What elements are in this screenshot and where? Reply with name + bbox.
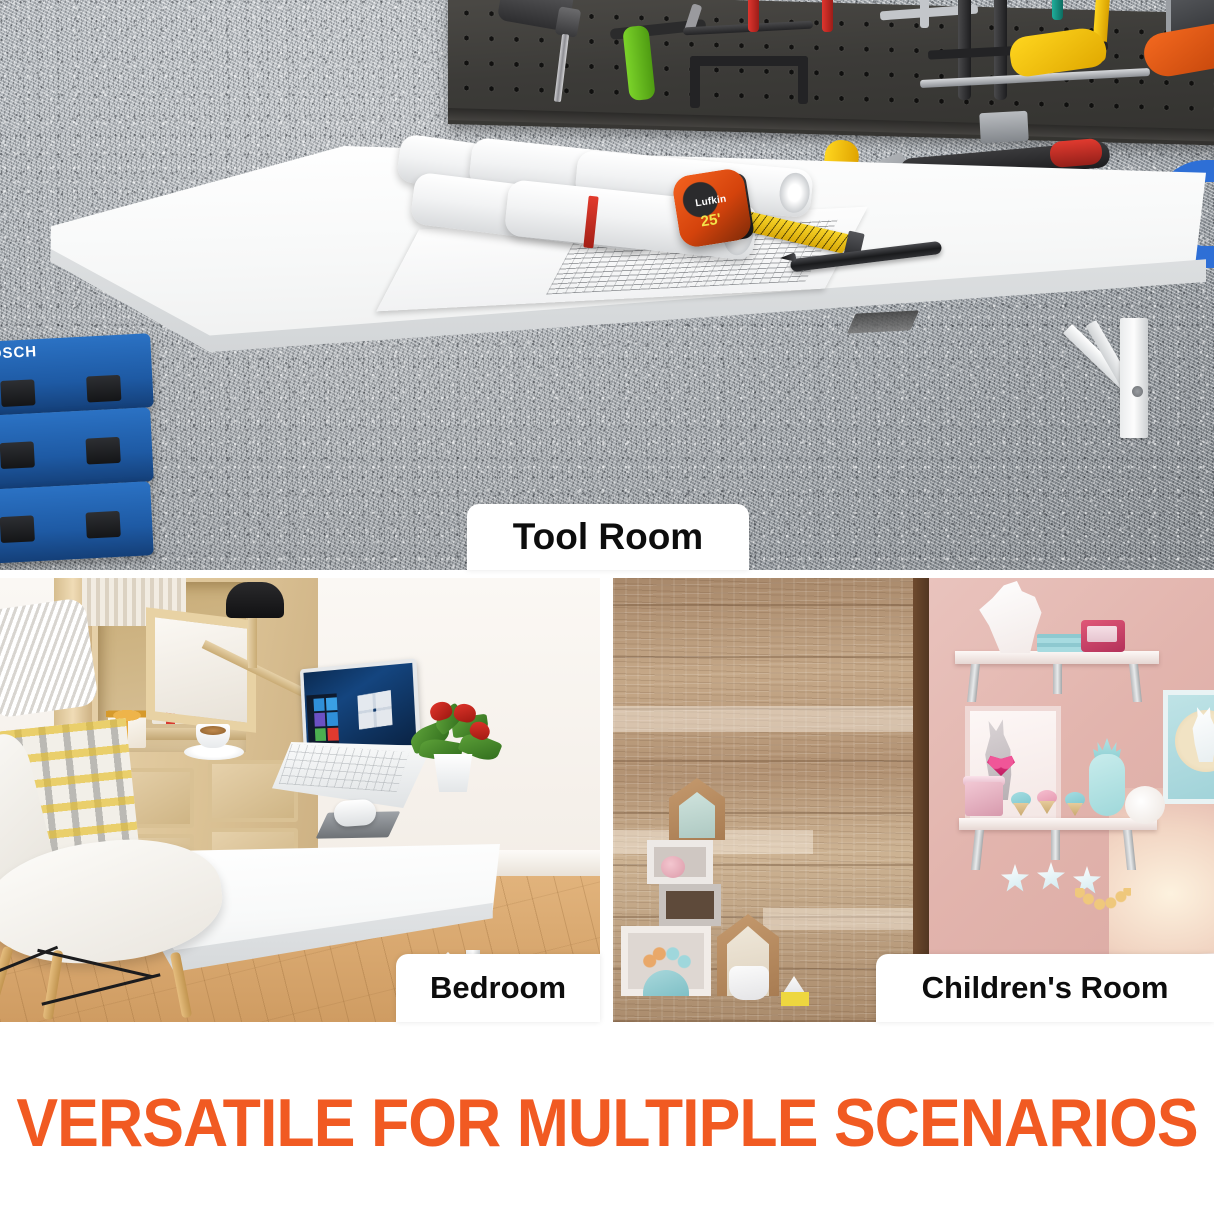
- tile-icon: [326, 697, 338, 711]
- pink-tin: [965, 782, 1003, 816]
- tile-icon: [327, 712, 339, 725]
- wood-frame-mirror: [146, 607, 256, 733]
- hex-key-arm2-icon: [798, 56, 808, 104]
- screwdriver-red2-icon: [822, 0, 833, 32]
- bed-pillow: [0, 597, 99, 719]
- laptop-keyboard: [279, 744, 409, 792]
- shelf-box: [659, 884, 721, 926]
- label-bedroom: Bedroom: [396, 954, 600, 1022]
- books-stack: [1037, 634, 1085, 652]
- case-latch-icon: [0, 441, 35, 469]
- shelf-bracket: [1053, 664, 1062, 694]
- lamp-stem: [248, 616, 257, 668]
- ice-cream-toy: [1065, 792, 1085, 816]
- ice-cream-cone: [1039, 801, 1055, 814]
- table-support-bracket: [1072, 320, 1182, 442]
- tool-case-bottom: [0, 481, 154, 565]
- lamp-shade: [226, 582, 284, 618]
- bracket-screw-icon: [1132, 386, 1143, 397]
- label-tool-room: Tool Room: [467, 504, 749, 570]
- wood-plank-light: [613, 706, 929, 732]
- pineapple-light-icon: [1089, 754, 1125, 816]
- wood-plank-light: [763, 908, 929, 930]
- wall-shelf-top: [955, 651, 1159, 664]
- bead-garland: [1075, 888, 1131, 912]
- coffee-liquid: [200, 726, 226, 735]
- bracket-post: [1120, 318, 1148, 438]
- screwdriver-teal2-icon: [1052, 0, 1063, 20]
- computer-mouse: [333, 799, 377, 828]
- tile-icon: [327, 727, 339, 740]
- ice-cream-cone: [1067, 803, 1083, 816]
- axe-grip-icon: [1049, 138, 1103, 168]
- scraper-icon: [979, 111, 1029, 143]
- toy-face-pot: [729, 966, 769, 1000]
- case-latch-icon: [86, 375, 121, 403]
- case-latch-icon: [85, 511, 120, 539]
- tool-case-middle: [0, 407, 154, 491]
- hex-key-icon: [690, 56, 808, 66]
- case-latch-icon: [0, 515, 35, 543]
- screwdriver-red-icon: [748, 0, 759, 32]
- case-latch-icon: [85, 437, 120, 465]
- label-children-room: Children's Room: [876, 954, 1214, 1022]
- toy-ring: [661, 856, 685, 878]
- headline-text: VERSATILE FOR MULTIPLE SCENARIOS: [49, 1078, 1166, 1168]
- windows-tiles: [313, 697, 338, 741]
- tile-icon: [314, 713, 325, 726]
- case-latch-icon: [0, 379, 35, 407]
- tile-icon: [313, 698, 324, 711]
- wall-shelf-bottom: [959, 818, 1157, 830]
- windows-logo-icon: [357, 690, 392, 730]
- wall-lamp-icon: [1125, 786, 1165, 824]
- table-label-sticker: [847, 310, 919, 333]
- product-collage: STAYER BOSCH: [0, 0, 1214, 1214]
- toy-radio-face: [1087, 626, 1117, 642]
- panel-tool-room: STAYER BOSCH: [0, 0, 1214, 570]
- plant-foliage: [408, 700, 500, 762]
- laptop-screen: [300, 658, 421, 751]
- ice-cream-toy: [1011, 792, 1031, 816]
- ice-cream-toy: [1037, 790, 1057, 814]
- tile-icon: [315, 728, 326, 741]
- ice-cream-cone: [1013, 803, 1029, 816]
- hex-key-arm-icon: [690, 56, 700, 108]
- tape-measure-body: [671, 167, 753, 249]
- toy-yellow-block: [781, 992, 809, 1006]
- shelf-bracket: [1051, 830, 1060, 860]
- t-handle-wrench-stem-icon: [920, 0, 929, 28]
